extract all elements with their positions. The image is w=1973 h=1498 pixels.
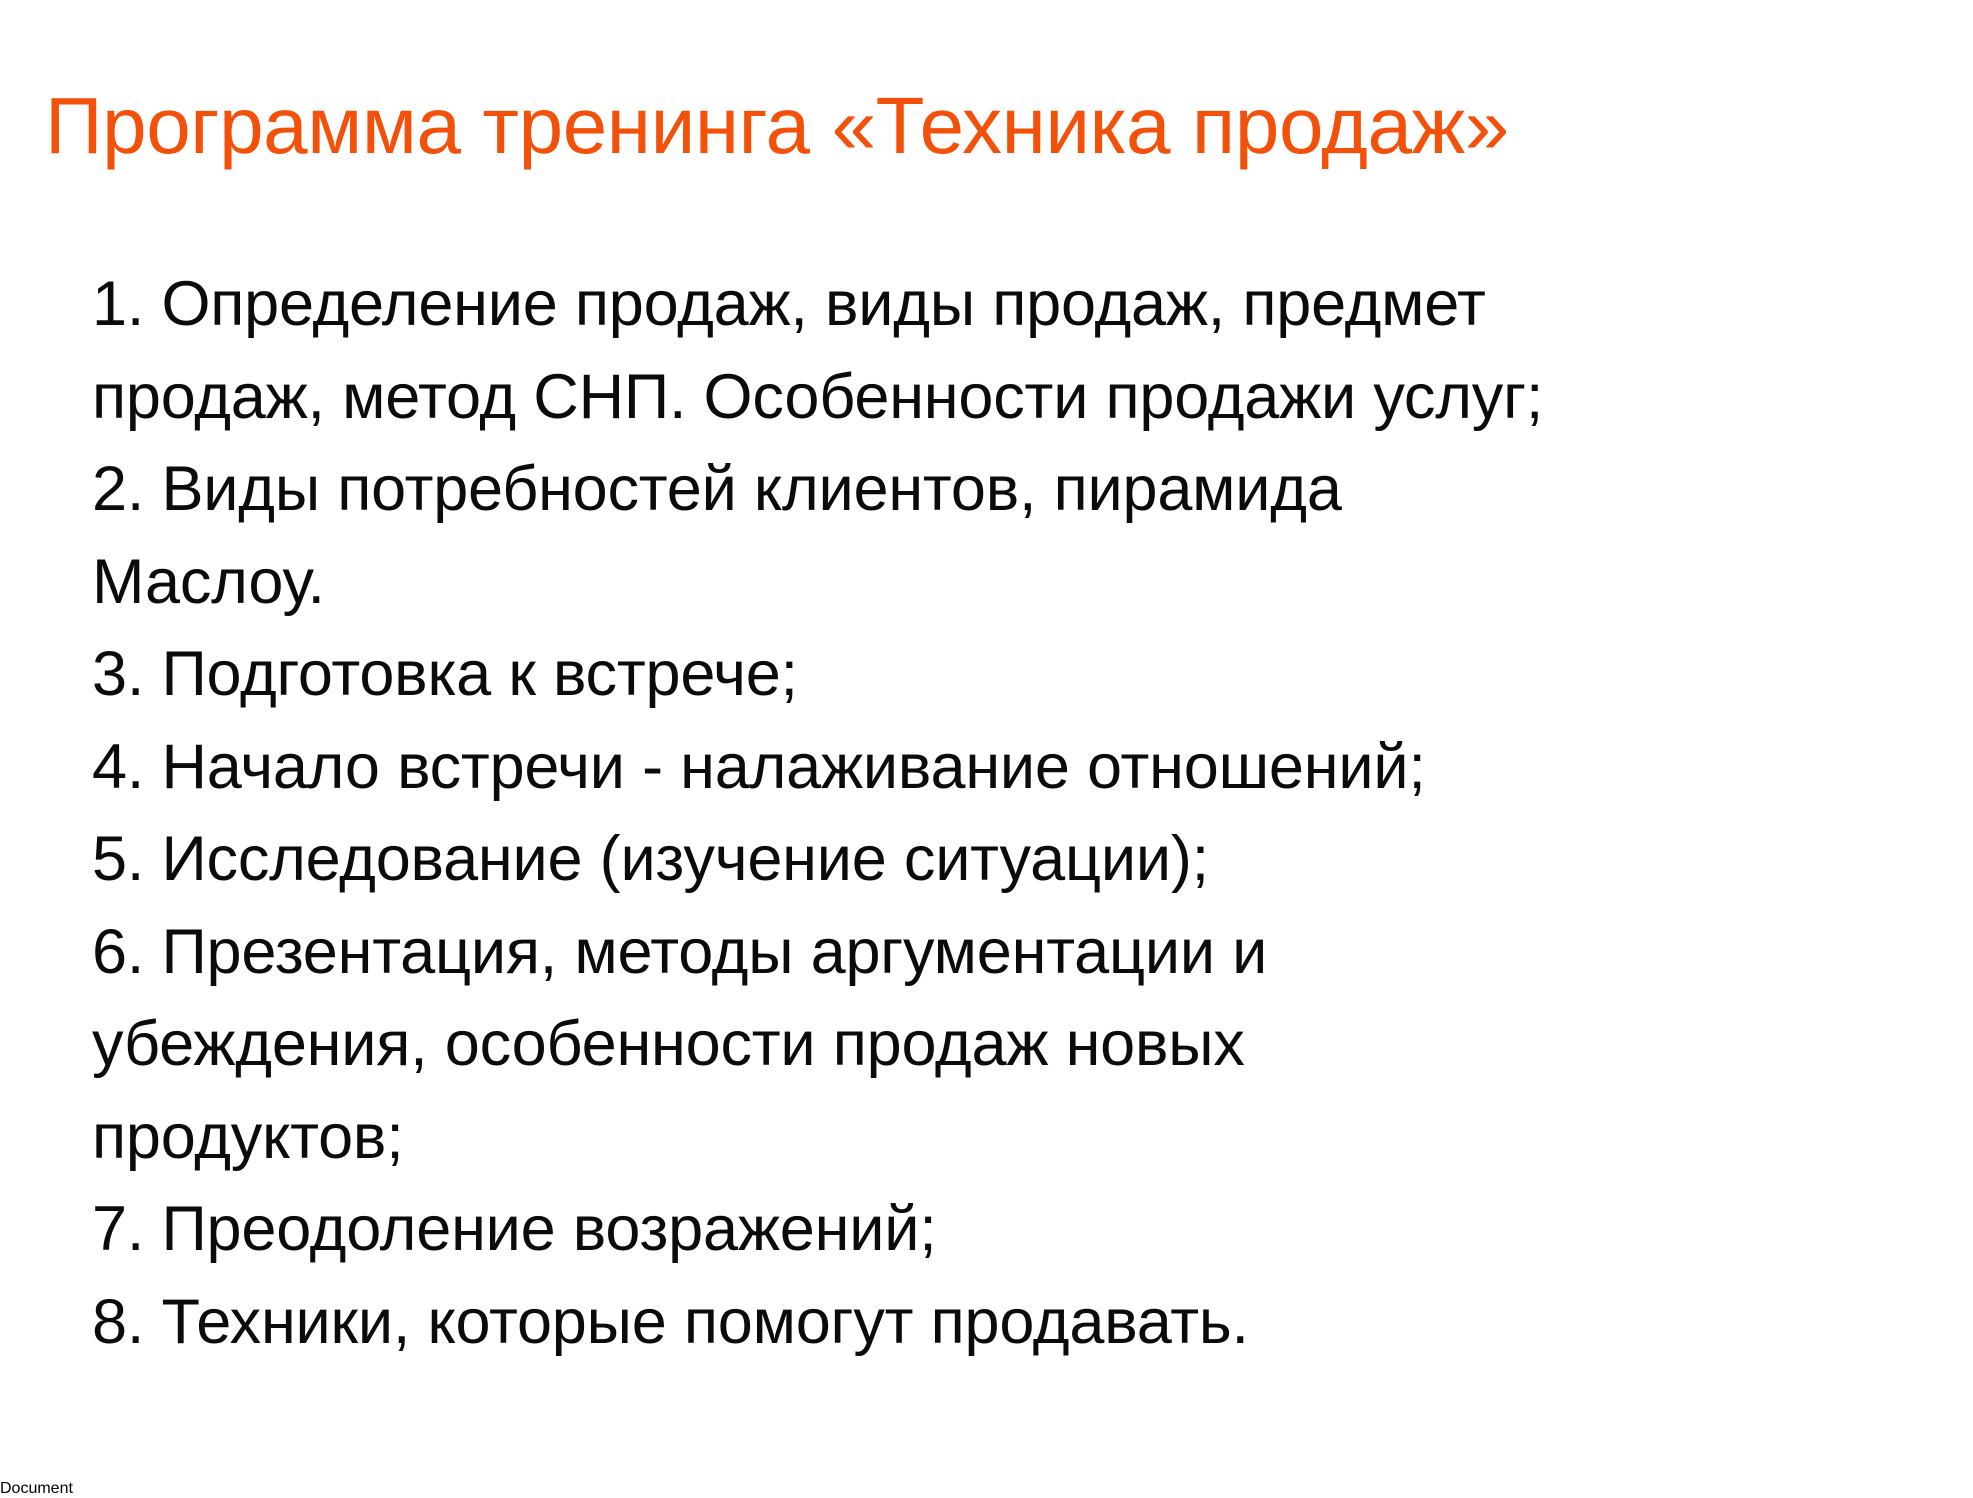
agenda-line: убеждения, особенности продаж новых <box>92 998 1922 1091</box>
agenda-line: 6. Презентация, методы аргументации и <box>92 906 1922 999</box>
agenda-line: 8. Техники, которые помогут продавать. <box>92 1276 1922 1369</box>
agenda-line: продуктов; <box>92 1091 1922 1184</box>
agenda-line: 2. Виды потребностей клиентов, пирамида <box>92 443 1922 536</box>
agenda-line: Маслоу. <box>92 536 1922 629</box>
page-title: Программа тренинга «Техника продаж» <box>45 84 1935 168</box>
presentation-slide: Программа тренинга «Техника продаж» 1. О… <box>0 0 1973 1480</box>
agenda-line: 5. Исследование (изучение ситуации); <box>92 813 1922 906</box>
agenda-list: 1. Определение продаж, виды продаж, пред… <box>92 258 1922 1368</box>
agenda-line: продаж, метод СНП. Особенности продажи у… <box>92 351 1922 444</box>
agenda-line: 1. Определение продаж, виды продаж, пред… <box>92 258 1922 351</box>
agenda-line: 3. Подготовка к встрече; <box>92 628 1922 721</box>
agenda-line: 7. Преодоление возражений; <box>92 1183 1922 1276</box>
agenda-line: 4. Начало встречи - налаживание отношени… <box>92 721 1922 814</box>
